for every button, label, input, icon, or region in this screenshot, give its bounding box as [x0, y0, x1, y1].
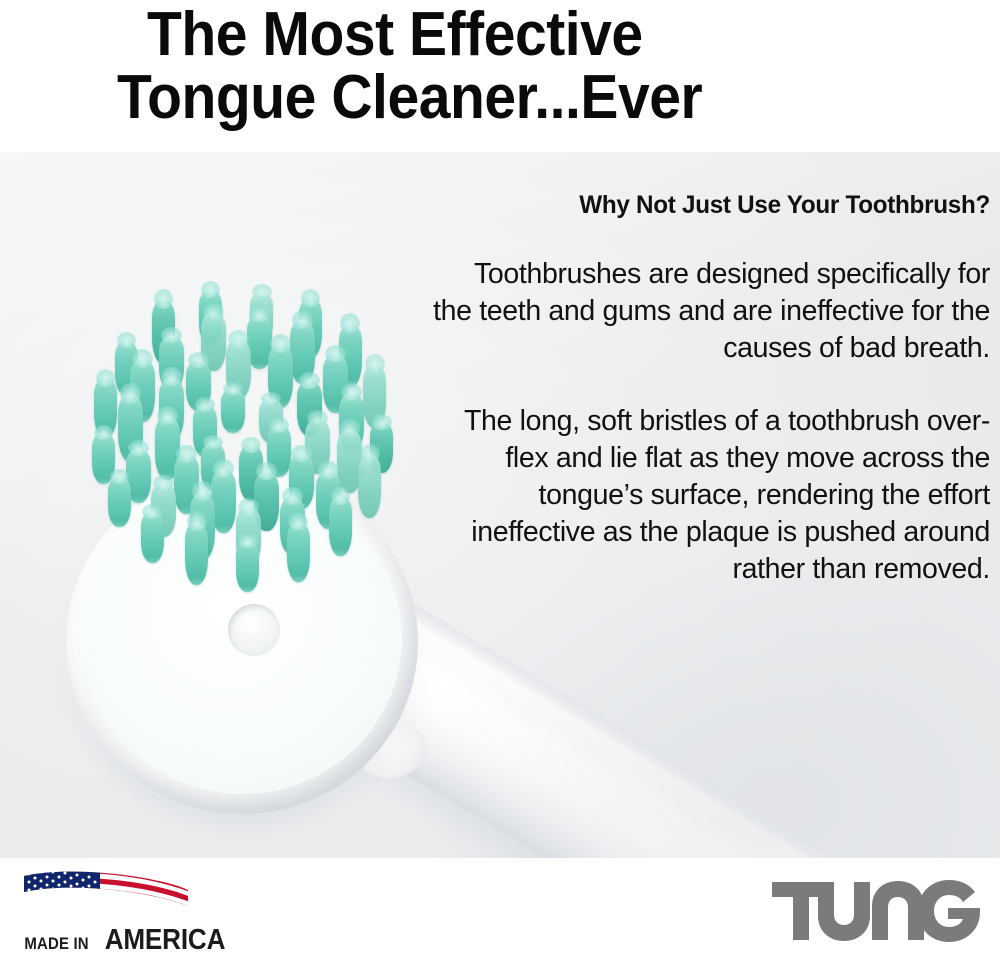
section-subheading: Why Not Just Use Your Toothbrush?: [447, 190, 990, 220]
bristle-tuft: [185, 522, 208, 586]
bristle-tuft: [141, 512, 164, 563]
brush-head-center-dimple: [228, 604, 280, 656]
product-infographic: The Most Effective Tongue Cleaner...Ever…: [0, 0, 1000, 961]
bristle-tuft: [329, 496, 352, 556]
bristle-tuft: [211, 469, 236, 533]
usa-flag-icon: [20, 870, 190, 926]
body-paragraph-1: Toothbrushes are designed specifically f…: [430, 256, 990, 367]
copy-column: Why Not Just Use Your Toothbrush? Toothb…: [430, 190, 990, 588]
badge-line-made-in: MADE IN: [24, 934, 88, 954]
bristle-tuft: [358, 454, 381, 518]
badge-line-america: AMERICA: [105, 924, 226, 957]
made-in-america-badge: MADE IN AMERICA: [14, 870, 264, 952]
tung-logo: [772, 880, 982, 942]
bristle-tuft: [108, 477, 131, 528]
badge-text: MADE IN AMERICA: [20, 924, 232, 957]
body-paragraph-2: The long, soft bristles of a toothbrush …: [430, 403, 990, 588]
headline-line-2: Tongue Cleaner...Ever: [117, 66, 702, 130]
bristle-tuft: [236, 541, 259, 592]
bristle-tuft: [221, 389, 245, 433]
headline-banner: The Most Effective Tongue Cleaner...Ever: [0, 0, 1000, 152]
footer-bar: MADE IN AMERICA: [0, 858, 1000, 961]
headline-line-1: The Most Effective: [147, 3, 643, 67]
bristle-tuft: [287, 522, 310, 582]
